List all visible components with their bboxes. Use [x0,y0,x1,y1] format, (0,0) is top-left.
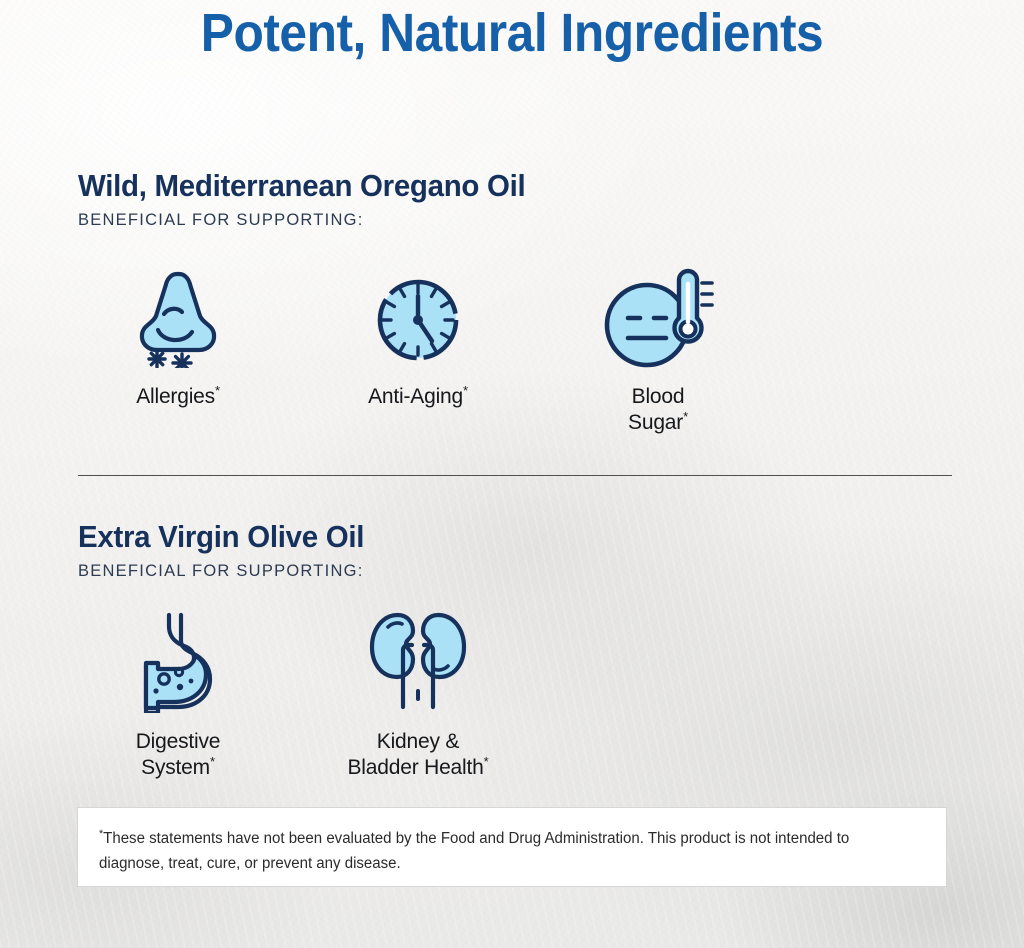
footnote-marker: * [484,754,489,769]
benefit-label-anti-aging: Anti-Aging* [368,384,468,410]
benefit-item-blood-sugar: Blood Sugar* [538,268,778,435]
benefit-item-allergies: Allergies* [58,268,298,435]
section-divider [78,475,952,476]
clock-anti-aging-icon [370,268,466,368]
infographic-page: Potent, Natural Ingredients Wild, Medite… [0,0,1024,948]
benefit-item-digestive-system: Digestive System* [58,613,298,780]
section-subheading-oregano: BENEFICIAL FOR SUPPORTING: [78,211,549,230]
benefit-item-anti-aging: Anti-Aging* [298,268,538,435]
face-thermometer-blood-sugar-icon [602,268,714,368]
benefit-label-line1: Kidney & [377,730,459,753]
benefit-label-line1: Allergies [136,385,215,408]
footnote-marker: * [210,754,215,769]
section-oregano-oil: Wild, Mediterranean Oregano Oil BENEFICI… [78,168,549,230]
disclaimer-box: *These statements have not been evaluate… [77,807,947,887]
benefit-label-line2: Bladder Health [348,756,484,779]
benefit-label-blood-sugar: Blood Sugar* [628,384,688,435]
section-heading-oregano: Wild, Mediterranean Oregano Oil [78,168,525,204]
footnote-marker: * [215,383,220,398]
benefit-label-line2: System [141,756,210,779]
stomach-digestive-icon [132,613,224,713]
benefit-label-allergies: Allergies* [136,384,220,410]
benefits-row-olive: Digestive System* Kidney & Bladder He [58,613,538,780]
benefit-label-kidney-bladder: Kidney & Bladder Health* [348,729,489,780]
nose-allergies-icon [130,268,226,368]
benefit-item-kidney-bladder: Kidney & Bladder Health* [298,613,538,780]
benefit-label-line2: Sugar [628,411,683,434]
section-olive-oil: Extra Virgin Olive Oil BENEFICIAL FOR SU… [78,519,379,581]
footnote-marker: * [683,409,688,424]
page-title: Potent, Natural Ingredients [41,2,983,64]
benefit-label-line1: Digestive [136,730,221,753]
section-subheading-olive: BENEFICIAL FOR SUPPORTING: [78,562,379,581]
benefit-label-line1: Anti-Aging [368,385,463,408]
benefit-label-line1: Blood [632,385,685,408]
kidneys-bladder-icon [366,613,470,713]
footnote-marker: * [463,383,468,398]
disclaimer-text: *These statements have not been evaluate… [99,826,900,876]
benefit-label-digestive-system: Digestive System* [136,729,221,780]
benefits-row-oregano: Allergies* [58,268,778,435]
section-heading-olive: Extra Virgin Olive Oil [78,519,364,555]
disclaimer-body: These statements have not been evaluated… [99,830,849,872]
